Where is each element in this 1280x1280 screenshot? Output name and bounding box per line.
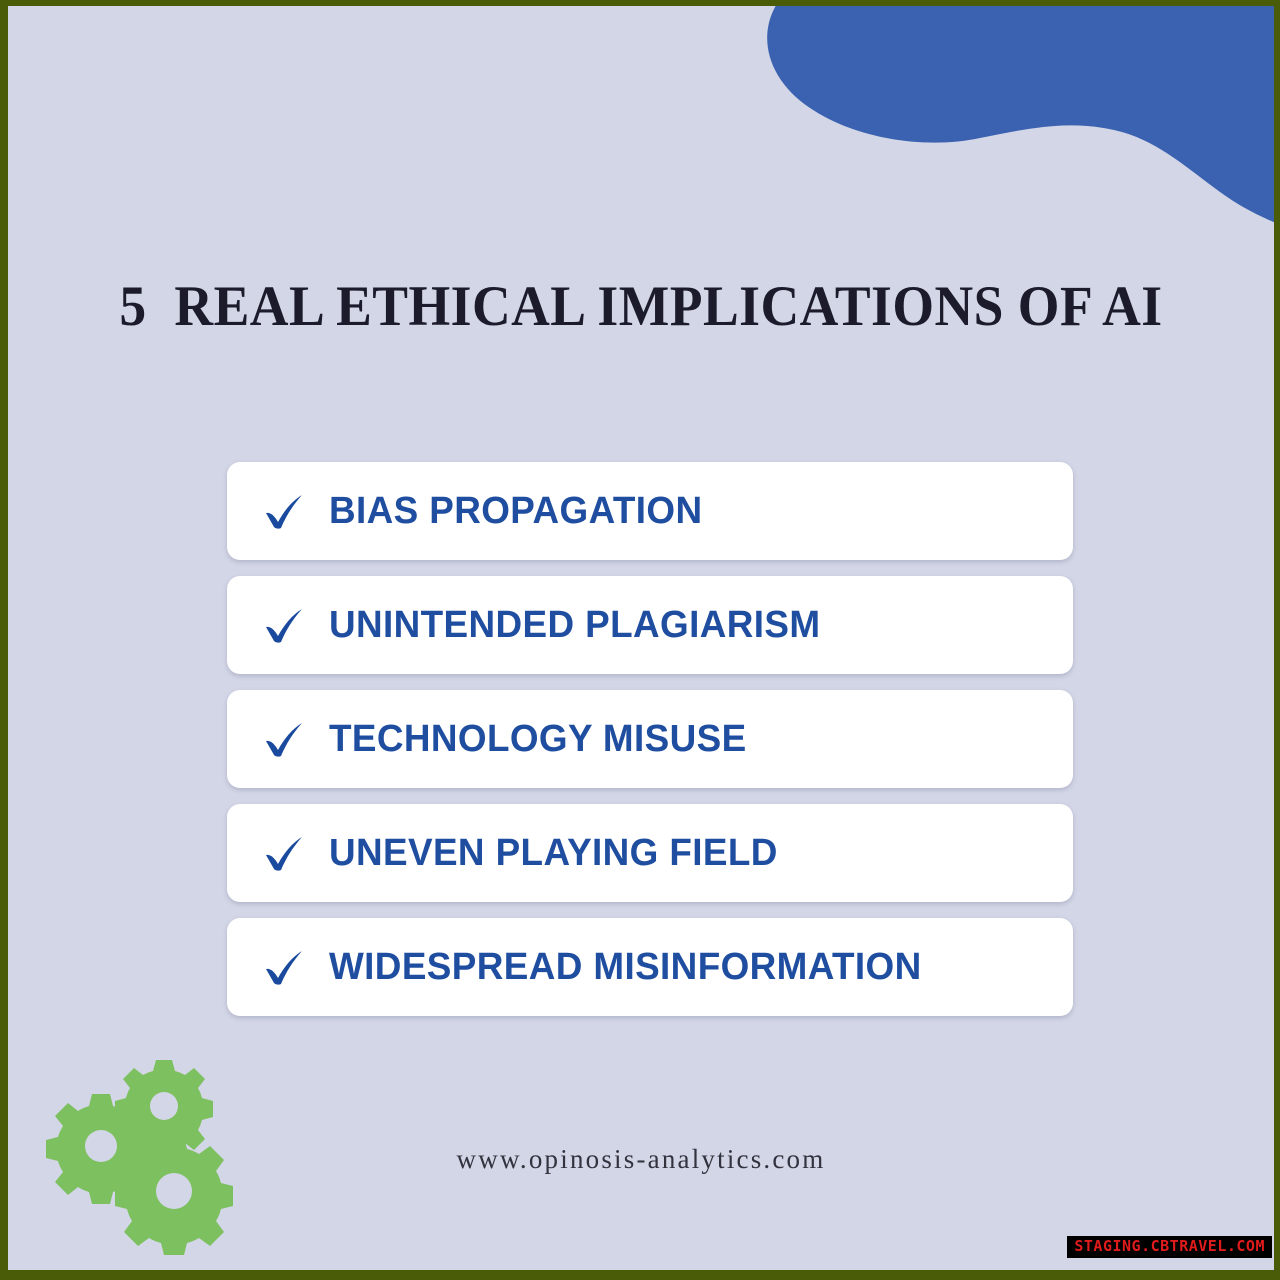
list-item[interactable]: UNEVEN PLAYING FIELD xyxy=(227,804,1073,902)
list-item-label: TECHNOLOGY MISUSE xyxy=(329,718,747,761)
poster: 5 REAL ETHICAL IMPLICATIONS OF AI BIAS P… xyxy=(0,0,1280,1280)
list-item-label: BIAS PROPAGATION xyxy=(329,490,702,533)
check-icon xyxy=(261,944,307,990)
poster-canvas: 5 REAL ETHICAL IMPLICATIONS OF AI BIAS P… xyxy=(8,6,1274,1270)
check-icon xyxy=(261,830,307,876)
list-item[interactable]: WIDESPREAD MISINFORMATION xyxy=(227,918,1073,1016)
list-item[interactable]: BIAS PROPAGATION xyxy=(227,462,1073,560)
list-item-label: UNINTENDED PLAGIARISM xyxy=(329,604,820,647)
page-title: 5 REAL ETHICAL IMPLICATIONS OF AI xyxy=(46,278,1236,335)
list-item-label: UNEVEN PLAYING FIELD xyxy=(329,832,778,875)
footer-website-url: www.opinosis-analytics.com xyxy=(8,1144,1274,1175)
status-badge: STAGING.CBTRAVEL.COM xyxy=(1067,1236,1272,1258)
checklist: BIAS PROPAGATION UNINTENDED PLAGIARISM T… xyxy=(227,462,1073,1016)
list-item-label: WIDESPREAD MISINFORMATION xyxy=(329,946,922,989)
check-icon xyxy=(261,602,307,648)
check-icon xyxy=(261,716,307,762)
list-item[interactable]: TECHNOLOGY MISUSE xyxy=(227,690,1073,788)
list-item[interactable]: UNINTENDED PLAGIARISM xyxy=(227,576,1073,674)
blue-wave-blob-icon xyxy=(718,6,1274,242)
check-icon xyxy=(261,488,307,534)
